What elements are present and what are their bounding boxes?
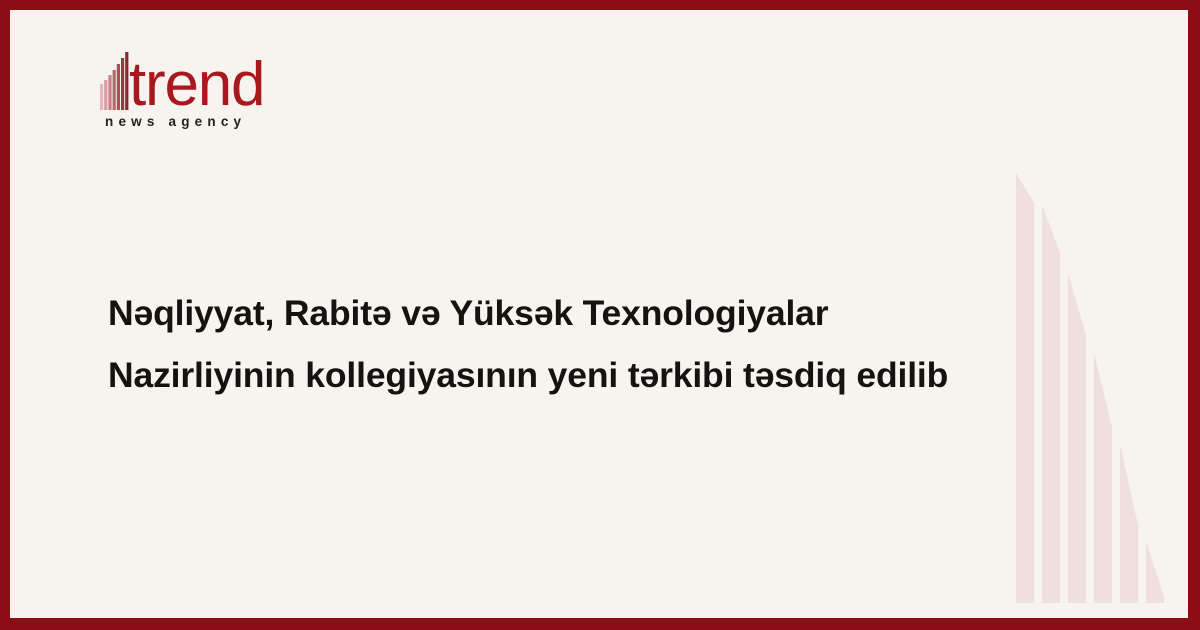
logo-tagline: news agency xyxy=(105,114,246,129)
deco-bar xyxy=(1146,541,1164,603)
headline-text: Nəqliyyat, Rabitə və Yüksək Texnologiyal… xyxy=(108,282,1008,406)
trend-news-agency-logo[interactable]: trend news agency xyxy=(98,48,298,140)
deco-bar xyxy=(1120,445,1138,603)
deco-bar xyxy=(1068,273,1086,603)
ascending-bars-icon xyxy=(100,52,128,110)
deco-bar xyxy=(1016,173,1034,603)
svg-text:trend: trend xyxy=(129,50,264,110)
card-canvas: trend news agency Nəqliyyat, Rabitə və Y… xyxy=(10,10,1188,618)
ascending-bars-decoration xyxy=(1016,163,1176,603)
share-card: trend news agency Nəqliyyat, Rabitə və Y… xyxy=(0,0,1200,630)
deco-bar xyxy=(1042,205,1060,603)
trend-wordmark-icon: trend xyxy=(98,48,278,110)
deco-bar xyxy=(1094,353,1112,603)
